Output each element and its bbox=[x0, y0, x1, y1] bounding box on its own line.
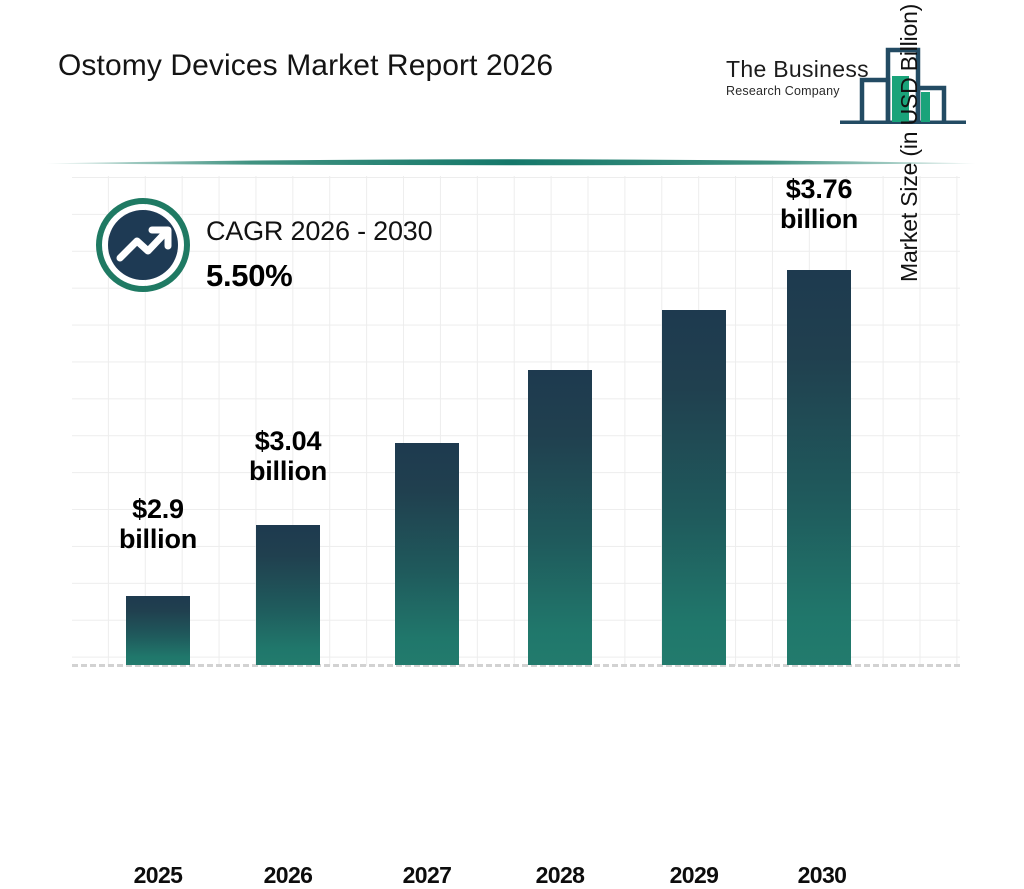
bar-label-2026-value: $3.04 bbox=[255, 426, 322, 456]
cagr-range-label: CAGR 2026 - 2030 bbox=[206, 216, 432, 247]
bar-2025[interactable] bbox=[126, 596, 190, 665]
logo-line-secondary: Research Company bbox=[726, 85, 876, 98]
bar-2030[interactable] bbox=[787, 270, 851, 665]
x-axis-label-2027: 2027 bbox=[367, 862, 487, 889]
cagr-value-label: 5.50% bbox=[206, 258, 292, 294]
x-axis-label-2026: 2026 bbox=[228, 862, 348, 889]
y-axis-title: Market Size (in USD Billion) bbox=[896, 0, 923, 282]
bar-2029[interactable] bbox=[662, 310, 726, 665]
bar-2026[interactable] bbox=[256, 525, 320, 665]
logo-line-primary: The Business bbox=[726, 58, 876, 81]
bar-label-2026-unit: billion bbox=[206, 456, 370, 486]
bar-label-2026: $3.04 billion bbox=[206, 426, 370, 486]
bar-label-2025: $2.9 billion bbox=[76, 494, 240, 554]
section-divider bbox=[46, 152, 976, 174]
x-axis-label-2030: 2030 bbox=[762, 862, 882, 889]
bar-2027[interactable] bbox=[395, 443, 459, 665]
trending-up-arrow-icon bbox=[96, 198, 190, 292]
x-axis-label-2028: 2028 bbox=[500, 862, 620, 889]
x-axis-label-2025: 2025 bbox=[98, 862, 218, 889]
bar-label-2025-value: $2.9 bbox=[132, 494, 184, 524]
brand-logo: The Business Research Company bbox=[722, 36, 970, 124]
page-title: Ostomy Devices Market Report 2026 bbox=[58, 49, 553, 83]
x-axis-label-2029: 2029 bbox=[634, 862, 754, 889]
bar-2028[interactable] bbox=[528, 370, 592, 665]
cagr-callout: CAGR 2026 - 2030 5.50% bbox=[96, 198, 516, 304]
bar-label-2025-unit: billion bbox=[76, 524, 240, 554]
bar-label-2030-value: $3.76 bbox=[786, 174, 853, 204]
logo-wordmark: The Business Research Company bbox=[726, 58, 876, 98]
bar-label-2030-unit: billion bbox=[737, 204, 901, 234]
bar-label-2030: $3.76 billion bbox=[737, 174, 901, 234]
